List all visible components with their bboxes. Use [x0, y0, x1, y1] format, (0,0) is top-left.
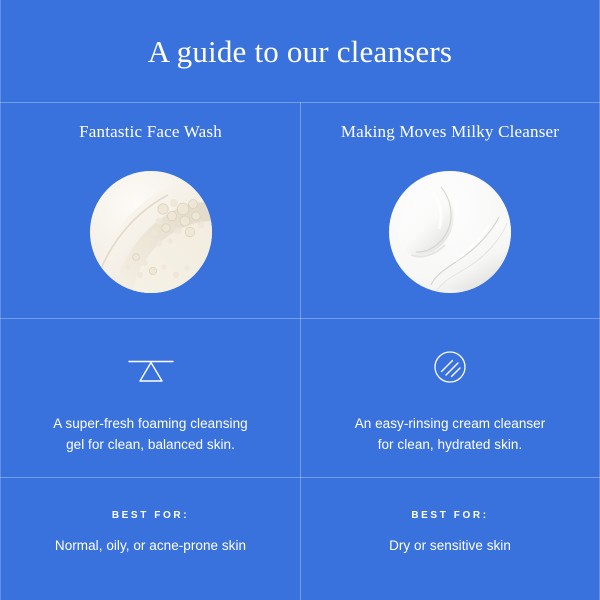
product-photo-right	[389, 171, 511, 293]
description-left: A super-fresh foaming cleansing gel for …	[29, 414, 271, 456]
best-for-label-right: Best for:	[411, 511, 488, 521]
foaming-cleanser-lather-photo	[90, 171, 212, 293]
description-cell-right: An easy-rinsing cream cleanser for clean…	[301, 319, 599, 477]
best-for-cell-right: Best for: Dry or sensitive skin	[301, 478, 599, 600]
header: A guide to our cleansers	[0, 0, 600, 102]
best-for-value-left: Normal, oily, or acne-prone skin	[35, 536, 266, 556]
hydration-circle-icon	[422, 346, 478, 388]
description-cell-left: A super-fresh foaming cleansing gel for …	[1, 319, 300, 477]
balance-scale-icon	[123, 346, 179, 388]
product-cell-left: Fantastic Face Wash	[1, 103, 300, 318]
best-for-label-left: Best for:	[112, 511, 189, 521]
product-name-left: Fantastic Face Wash	[79, 123, 222, 140]
cleanser-guide-infographic: A guide to our cleansers Fantastic Face …	[0, 0, 600, 600]
best-for-value-right: Dry or sensitive skin	[369, 536, 531, 556]
best-for-cell-left: Best for: Normal, oily, or acne-prone sk…	[1, 478, 300, 600]
product-cell-right: Making Moves Milky Cleanser	[301, 103, 599, 318]
product-name-right: Making Moves Milky Cleanser	[341, 123, 559, 140]
description-right: An easy-rinsing cream cleanser for clean…	[331, 414, 570, 456]
product-photo-left	[90, 171, 212, 293]
page-title: A guide to our cleansers	[148, 36, 452, 67]
milky-cream-swatch-photo	[389, 171, 511, 293]
